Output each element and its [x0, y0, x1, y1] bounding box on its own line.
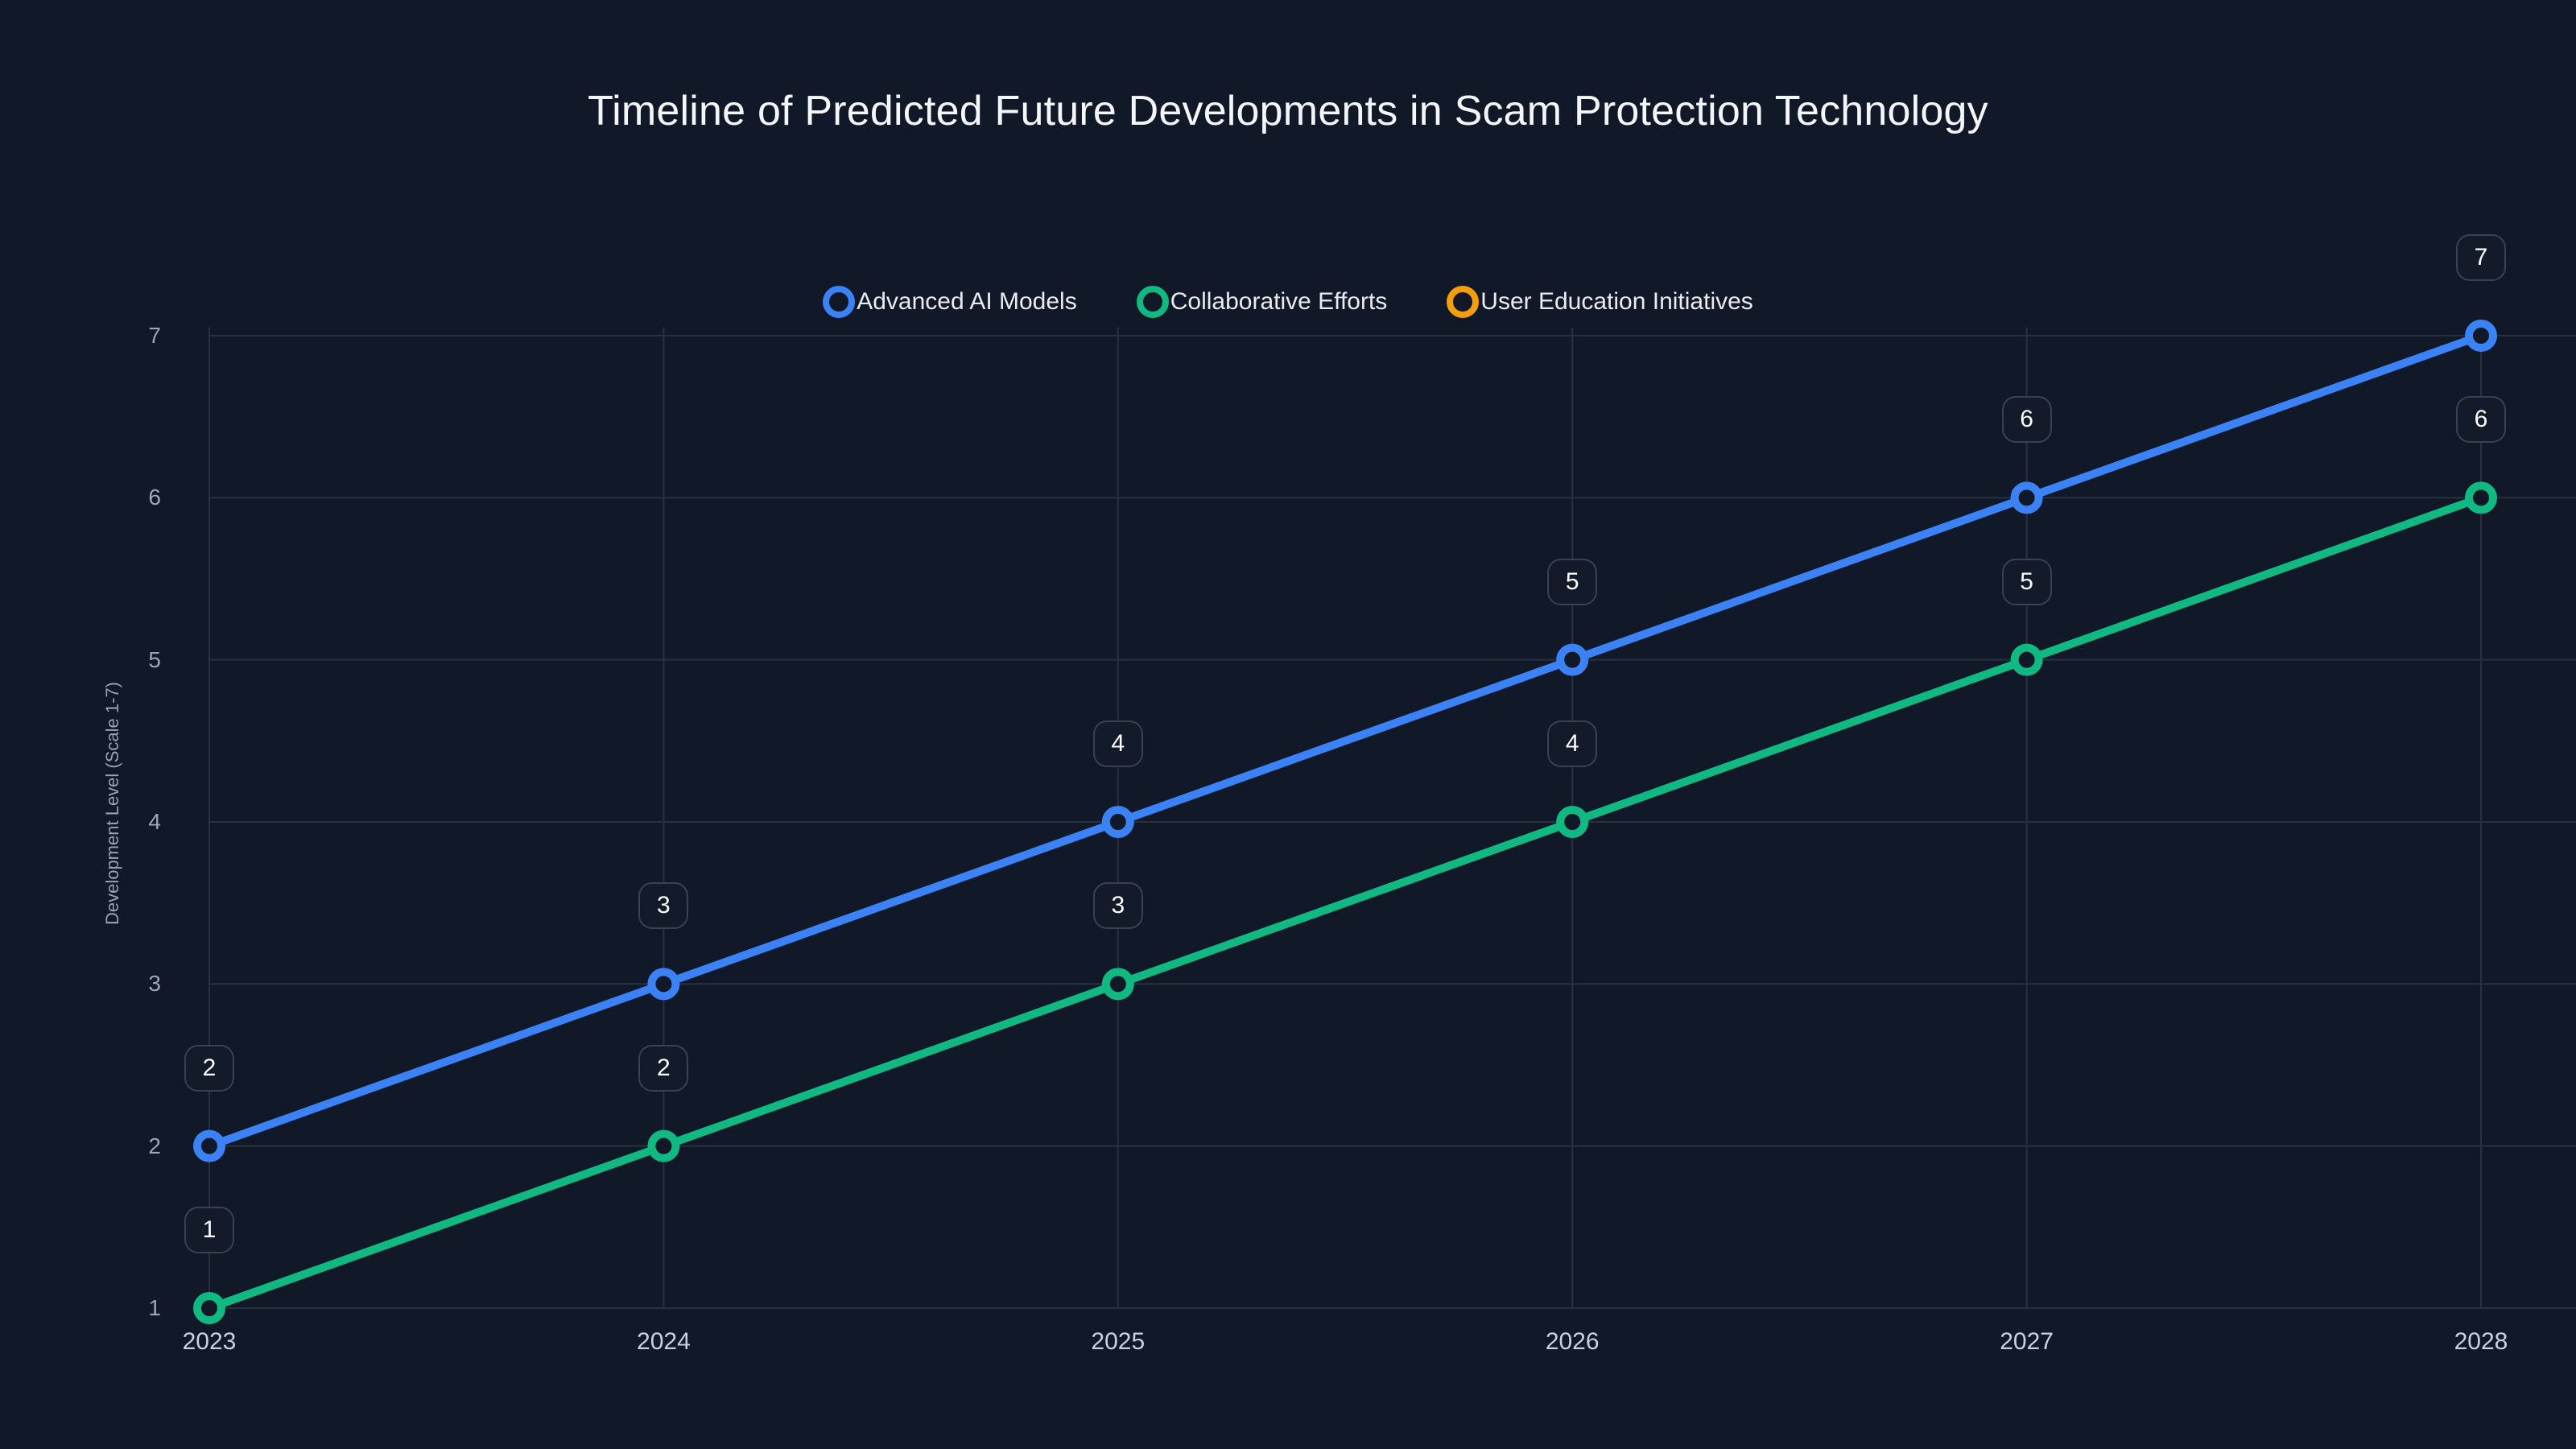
- data-point-marker[interactable]: [2015, 485, 2039, 510]
- data-point-label: 5: [2002, 559, 2052, 605]
- data-point-marker[interactable]: [2469, 324, 2493, 348]
- x-axis-tick-label: 2025: [1091, 1328, 1145, 1356]
- y-axis-tick-label: 2: [97, 1133, 161, 1159]
- data-point-marker[interactable]: [651, 972, 675, 996]
- x-axis-tick-label: 2024: [637, 1328, 691, 1356]
- data-point-label: 7: [2456, 234, 2506, 281]
- x-axis-tick-label: 2026: [1546, 1328, 1600, 1356]
- data-point-label: 3: [638, 882, 688, 929]
- y-axis-tick-label: 6: [97, 485, 161, 510]
- data-point-label: 3: [1093, 882, 1143, 929]
- chart-canvas: Timeline of Predicted Future Development…: [0, 0, 2576, 1449]
- data-point-label: 4: [1093, 720, 1143, 767]
- data-point-marker[interactable]: [2469, 485, 2493, 510]
- data-point-label: 6: [2002, 396, 2052, 443]
- y-axis-title: Development Level (Scale 1-7): [102, 642, 123, 964]
- series-line: [209, 497, 2481, 1308]
- y-axis-tick-label: 7: [97, 323, 161, 349]
- data-point-label: 2: [184, 1045, 234, 1092]
- x-axis-tick-label: 2023: [183, 1328, 237, 1356]
- data-point-marker[interactable]: [1560, 648, 1584, 672]
- y-axis-tick-label: 5: [97, 647, 161, 673]
- data-point-label: 2: [638, 1045, 688, 1092]
- data-point-marker[interactable]: [2015, 648, 2039, 672]
- series-line: [209, 336, 2481, 1146]
- data-point-label: 5: [1547, 559, 1597, 605]
- data-point-marker[interactable]: [651, 1134, 675, 1158]
- data-point-marker[interactable]: [1560, 810, 1584, 834]
- data-point-marker[interactable]: [197, 1296, 221, 1320]
- data-point-label: 1: [184, 1207, 234, 1253]
- x-axis-tick-label: 2027: [2000, 1328, 2054, 1356]
- y-axis-tick-label: 3: [97, 971, 161, 997]
- x-axis-tick-label: 2028: [2454, 1328, 2508, 1356]
- data-point-marker[interactable]: [197, 1134, 221, 1158]
- data-point-label: 4: [1547, 720, 1597, 767]
- data-point-marker[interactable]: [1106, 810, 1130, 834]
- y-axis-tick-label: 4: [97, 809, 161, 835]
- plot-area: [0, 0, 2576, 1449]
- data-point-label: 6: [2456, 396, 2506, 443]
- data-point-marker[interactable]: [1106, 972, 1130, 996]
- y-axis-tick-label: 1: [97, 1295, 161, 1321]
